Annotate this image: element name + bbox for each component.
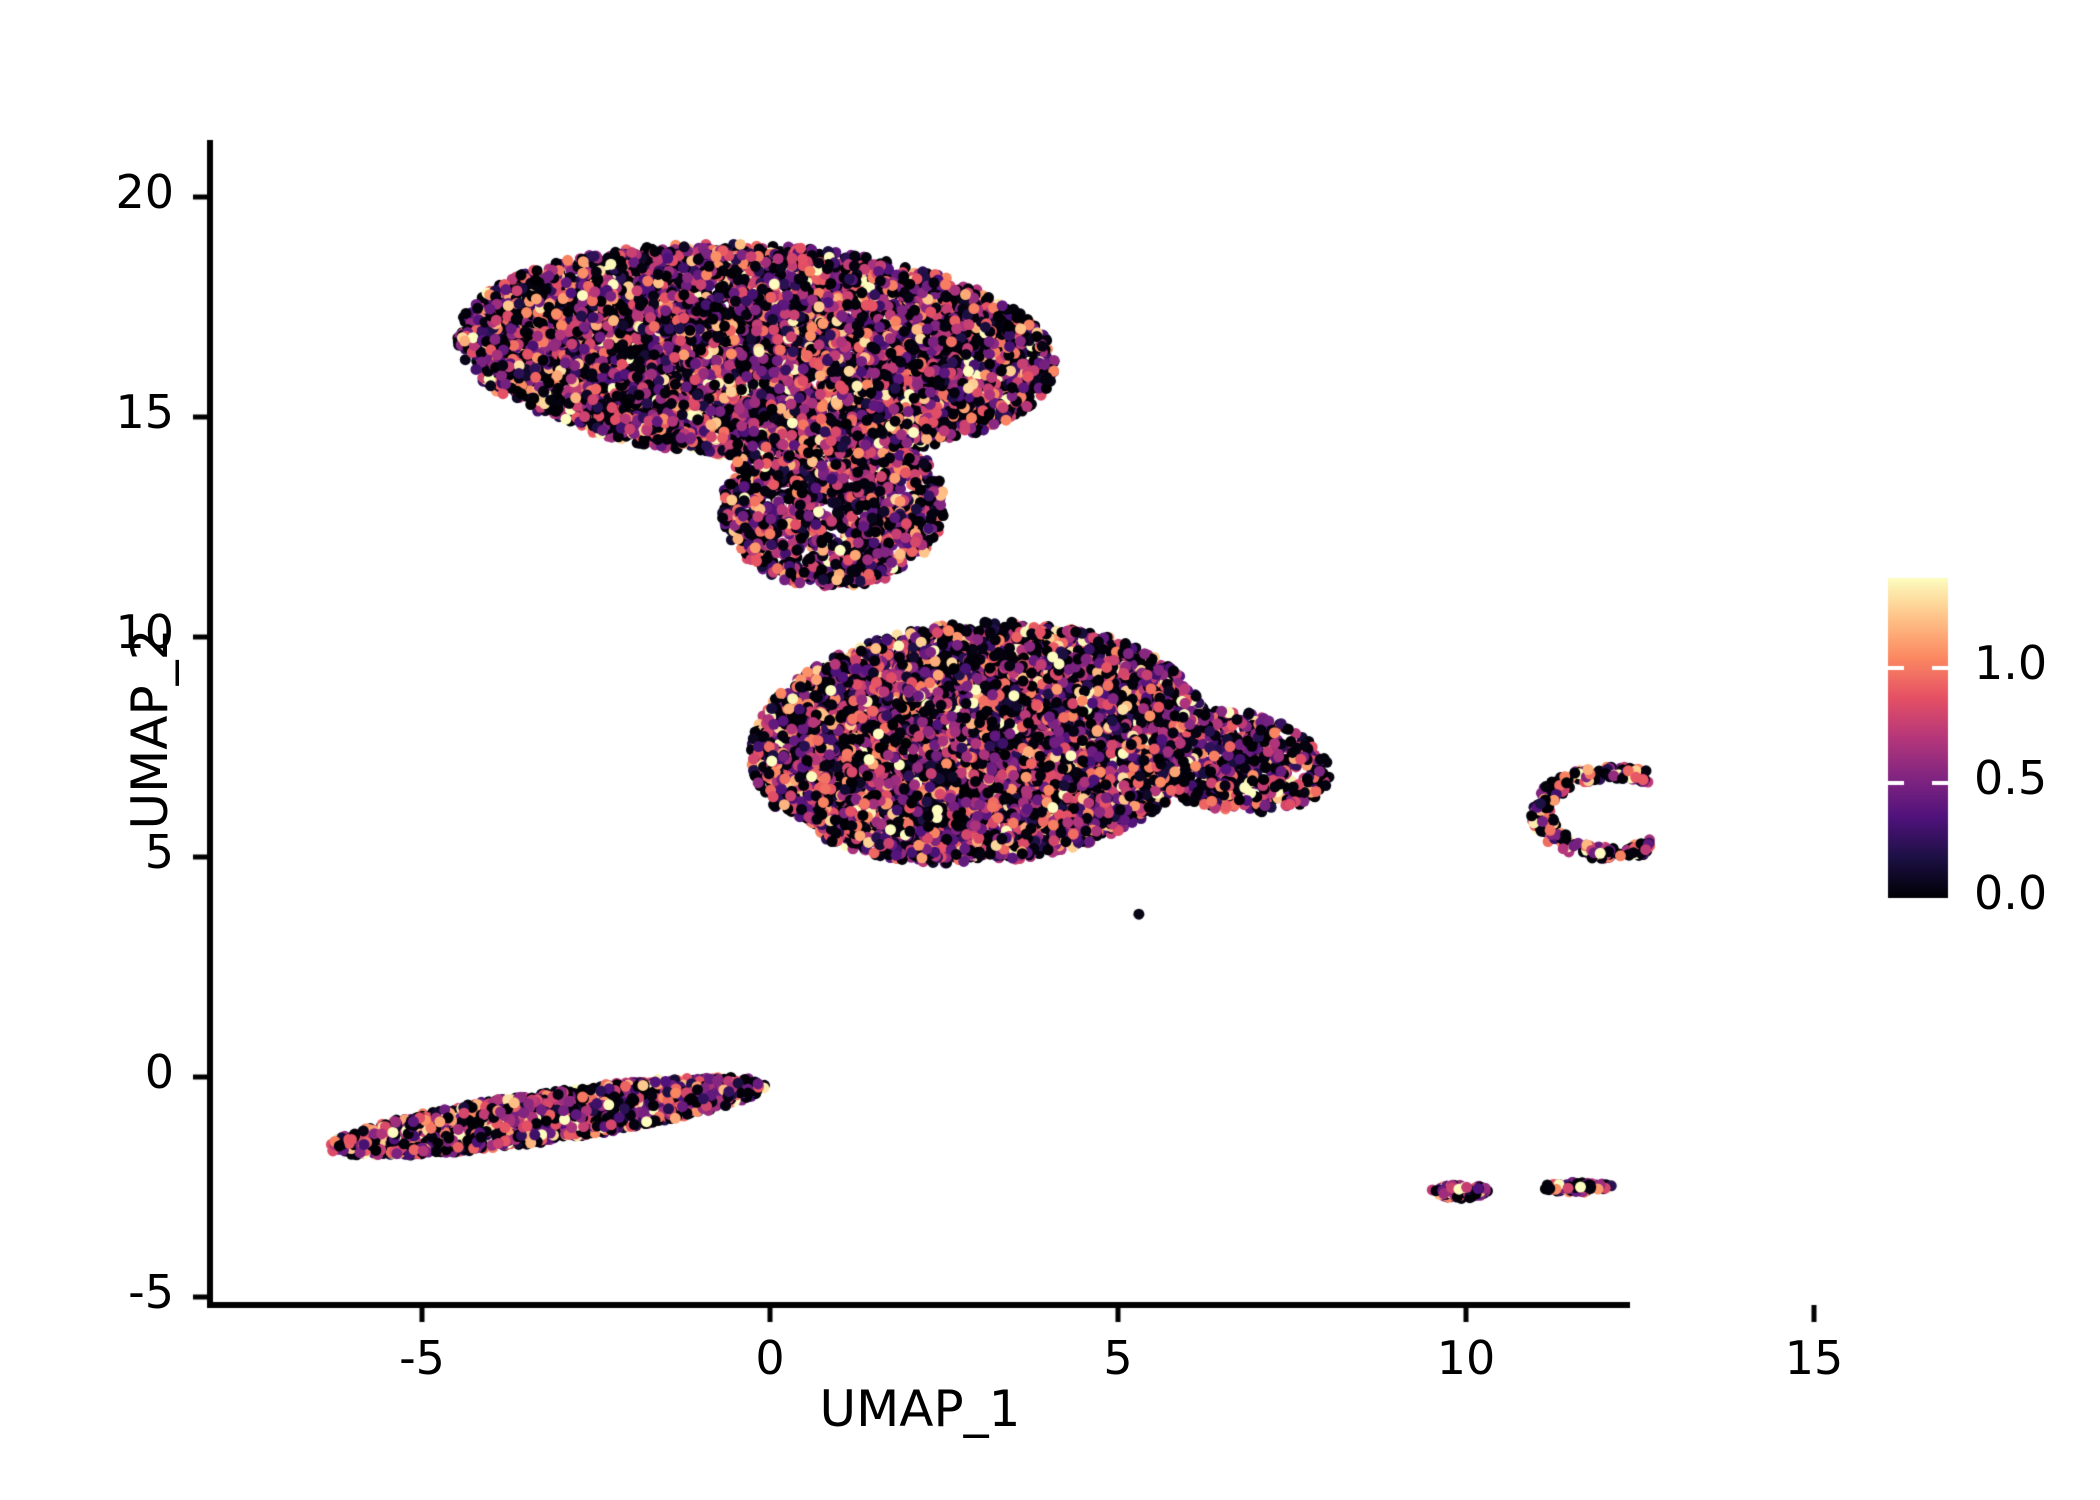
x-tick-label: 5 bbox=[1038, 1331, 1198, 1385]
umap-feature-plot-figure: AHR UMAP_1 UMAP_2 -5051015 -505101520 1.… bbox=[0, 0, 2100, 1500]
y-tick-label: 15 bbox=[4, 385, 174, 439]
x-tick-label: 0 bbox=[690, 1331, 850, 1385]
x-axis-label: UMAP_1 bbox=[210, 1380, 1630, 1438]
y-tick-label: -5 bbox=[4, 1265, 174, 1319]
y-tick-label: 10 bbox=[4, 605, 174, 659]
plot-canvas-container bbox=[0, 0, 2100, 1500]
y-tick-label: 0 bbox=[4, 1045, 174, 1099]
scatter-plot-canvas[interactable] bbox=[0, 0, 2100, 1500]
x-tick-label: -5 bbox=[342, 1331, 502, 1385]
y-tick-label: 20 bbox=[4, 165, 174, 219]
colorbar-tick-label: 0.5 bbox=[1974, 751, 2047, 805]
colorbar-tick-label: 0.0 bbox=[1974, 866, 2047, 920]
colorbar-tick-label: 1.0 bbox=[1974, 636, 2047, 690]
x-tick-label: 15 bbox=[1734, 1331, 1894, 1385]
x-tick-label: 10 bbox=[1386, 1331, 1546, 1385]
y-tick-label: 5 bbox=[4, 825, 174, 879]
